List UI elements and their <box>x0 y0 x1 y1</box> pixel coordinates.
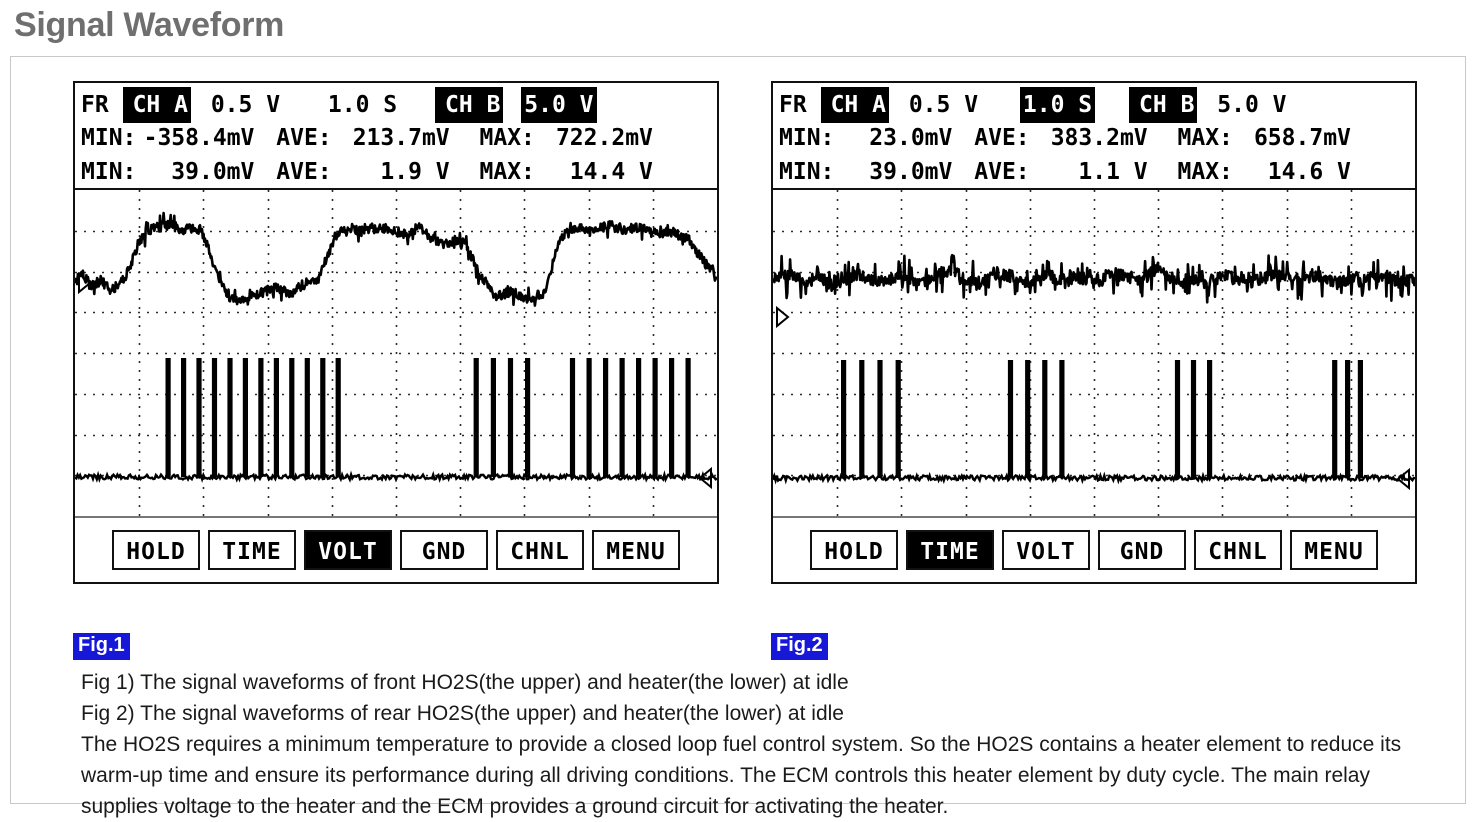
channel-a-scale-2[interactable]: 0.5 V <box>903 88 978 122</box>
min-label-b-1: MIN: <box>81 155 136 189</box>
timebase-2[interactable]: 1.0 S <box>1020 87 1095 123</box>
channel-ground-marker-icon <box>777 308 788 326</box>
max-value-b-2: 14.6 V <box>1233 155 1351 189</box>
softkey-volt-1[interactable]: VOLT <box>304 530 392 570</box>
max-value-a-1: 722.2mV <box>535 121 653 155</box>
softkey-bar-1: HOLDTIMEVOLTGNDCHNLMENU <box>75 516 717 582</box>
scope-settings-row-1: FR CH A 0.5 V 1.0 S CH B 5.0 V <box>81 87 713 121</box>
softkey-volt-2[interactable]: VOLT <box>1002 530 1090 570</box>
oscilloscope-figure-1: FR CH A 0.5 V 1.0 S CH B 5.0 V MIN:-358.… <box>73 81 719 584</box>
scope-readout-header-2: FR CH A 0.5 V 1.0 S CH B 5.0 V MIN:23.0m… <box>773 83 1415 190</box>
channel-b-label-2[interactable]: CH B <box>1129 87 1197 123</box>
softkey-time-1[interactable]: TIME <box>208 530 296 570</box>
ave-value-a-2: 383.2mV <box>1030 121 1148 155</box>
mode-label-2: FR <box>779 88 807 122</box>
min-value-a-1: -358.4mV <box>136 121 254 155</box>
scope-readout-header-1: FR CH A 0.5 V 1.0 S CH B 5.0 V MIN:-358.… <box>75 83 717 190</box>
min-label-b-2: MIN: <box>779 155 834 189</box>
ave-label-a-2: AVE: <box>966 121 1029 155</box>
channel-a-label-1[interactable]: CH A <box>123 87 191 123</box>
ave-label-b-2: AVE: <box>966 155 1029 189</box>
description-block: Fig 1) The signal waveforms of front HO2… <box>81 667 1431 822</box>
min-value-b-1: 39.0mV <box>136 155 254 189</box>
min-value-a-2: 23.0mV <box>834 121 952 155</box>
max-label-a-2: MAX: <box>1162 121 1233 155</box>
ave-value-a-1: 213.7mV <box>332 121 450 155</box>
plot-grid <box>773 190 1415 516</box>
channel-a-scale-1[interactable]: 0.5 V <box>205 88 280 122</box>
caption-line-1: Fig 1) The signal waveforms of front HO2… <box>81 667 1431 698</box>
softkey-hold-2[interactable]: HOLD <box>810 530 898 570</box>
figure-label-2: Fig.2 <box>771 633 828 660</box>
timebase-1[interactable]: 1.0 S <box>294 88 397 122</box>
softkey-gnd-1[interactable]: GND <box>400 530 488 570</box>
max-label-b-1: MAX: <box>464 155 535 189</box>
page-title: Signal Waveform <box>14 6 284 45</box>
ave-label-b-1: AVE: <box>268 155 331 189</box>
softkey-menu-2[interactable]: MENU <box>1290 530 1378 570</box>
waveform-plot-2 <box>773 190 1415 516</box>
max-value-a-2: 658.7mV <box>1233 121 1351 155</box>
channel-b-measurements-1: MIN:39.0mV AVE:1.9 V MAX:14.4 V <box>81 155 713 189</box>
channel-b-scale-1[interactable]: 5.0 V <box>521 87 596 123</box>
mode-label-1: FR <box>81 88 109 122</box>
channel-b-label-1[interactable]: CH B <box>435 87 503 123</box>
channel-a-measurements-2: MIN:23.0mV AVE:383.2mV MAX:658.7mV <box>779 121 1411 155</box>
channel-a-measurements-1: MIN:-358.4mV AVE:213.7mV MAX:722.2mV <box>81 121 713 155</box>
channel-b-trace <box>773 360 1415 481</box>
softkey-time-2[interactable]: TIME <box>906 530 994 570</box>
max-value-b-1: 14.4 V <box>535 155 653 189</box>
channel-a-label-2[interactable]: CH A <box>821 87 889 123</box>
softkey-bar-2: HOLDTIMEVOLTGNDCHNLMENU <box>773 516 1415 582</box>
channel-b-scale-2[interactable]: 5.0 V <box>1211 88 1286 122</box>
caption-line-2: Fig 2) The signal waveforms of rear HO2S… <box>81 698 1431 729</box>
figure-label-1: Fig.1 <box>73 633 130 660</box>
waveform-svg-2 <box>773 190 1415 516</box>
softkey-chnl-1[interactable]: CHNL <box>496 530 584 570</box>
oscilloscope-figure-2: FR CH A 0.5 V 1.0 S CH B 5.0 V MIN:23.0m… <box>771 81 1417 584</box>
description-paragraph: The HO2S requires a minimum temperature … <box>81 729 1431 822</box>
min-label-a-1: MIN: <box>81 121 136 155</box>
max-label-a-1: MAX: <box>464 121 535 155</box>
ave-label-a-1: AVE: <box>268 121 331 155</box>
max-label-b-2: MAX: <box>1162 155 1233 189</box>
content-panel: FR CH A 0.5 V 1.0 S CH B 5.0 V MIN:-358.… <box>10 56 1466 804</box>
min-value-b-2: 39.0mV <box>834 155 952 189</box>
waveform-svg-1 <box>75 190 717 516</box>
softkey-gnd-2[interactable]: GND <box>1098 530 1186 570</box>
min-label-a-2: MIN: <box>779 121 834 155</box>
scope-settings-row-2: FR CH A 0.5 V 1.0 S CH B 5.0 V <box>779 87 1411 121</box>
channel-b-measurements-2: MIN:39.0mV AVE:1.1 V MAX:14.6 V <box>779 155 1411 189</box>
ave-value-b-2: 1.1 V <box>1030 155 1148 189</box>
softkey-chnl-2[interactable]: CHNL <box>1194 530 1282 570</box>
softkey-hold-1[interactable]: HOLD <box>112 530 200 570</box>
waveform-plot-1 <box>75 190 717 516</box>
softkey-menu-1[interactable]: MENU <box>592 530 680 570</box>
ave-value-b-1: 1.9 V <box>332 155 450 189</box>
